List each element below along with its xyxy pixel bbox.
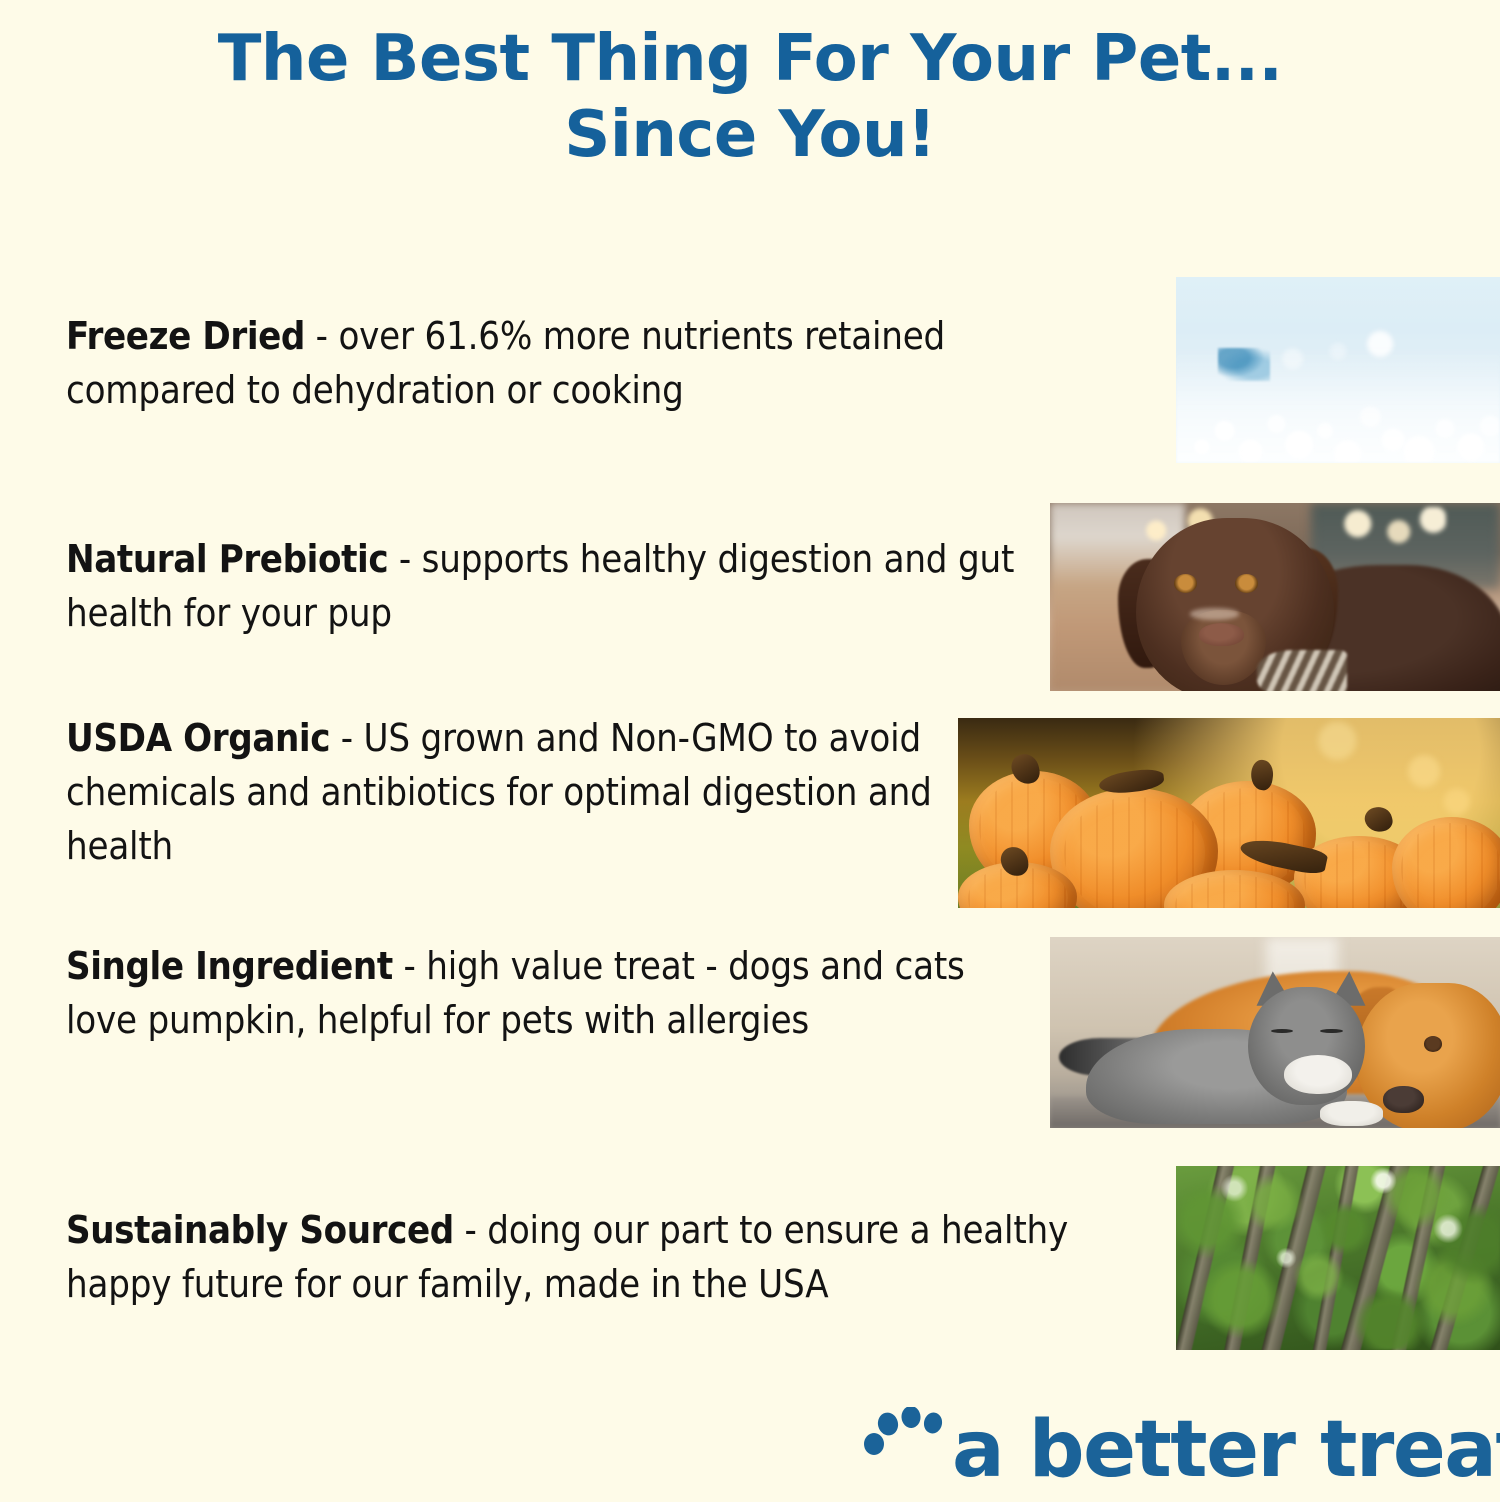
lab-muzzle-highlight <box>1190 608 1240 619</box>
infographic-page: The Best Thing For Your Pet... Since You… <box>0 0 1500 1500</box>
forest-sky-gaps <box>1176 1166 1500 1350</box>
forest-photo <box>1176 1166 1500 1350</box>
feature-item-single-ingredient: Single Ingredient - high value treat - d… <box>66 940 1026 1048</box>
chocolate-labrador-photo <box>1050 503 1500 691</box>
page-title-line-1: The Best Thing For Your Pet... <box>0 22 1500 98</box>
cat-and-dog-photo <box>1050 937 1500 1128</box>
golden-retriever-nose <box>1383 1086 1424 1113</box>
feature-lead: Single Ingredient <box>66 944 393 988</box>
ice-water-splash <box>1218 348 1270 381</box>
feature-lead: Freeze Dried <box>66 314 305 358</box>
pumpkin-ribs <box>1175 875 1293 908</box>
golden-retriever-eye <box>1424 1036 1442 1051</box>
pumpkins-photo <box>958 718 1500 908</box>
cat-chin-patch <box>1284 1055 1352 1093</box>
cat-front-paws <box>1320 1101 1383 1126</box>
lab-nose <box>1199 623 1244 646</box>
cat-eye-left <box>1271 1029 1294 1033</box>
feature-item-sustainably-sourced: Sustainably Sourced - doing our part to … <box>66 1204 1166 1312</box>
feature-item-usda-organic: USDA Organic - US grown and Non-GMO to a… <box>66 712 971 874</box>
feature-item-freeze-dried: Freeze Dried - over 61.6% more nutrients… <box>66 310 1096 418</box>
logo-wordmark: a better treat <box>952 1411 1500 1489</box>
paw-print-icon <box>860 1407 968 1493</box>
page-title-line-2: Since You! <box>0 98 1500 174</box>
feature-item-natural-prebiotic: Natural Prebiotic - supports healthy dig… <box>66 533 1026 641</box>
brand-logo[interactable]: a better treat <box>860 1398 1470 1502</box>
feature-lead: USDA Organic <box>66 716 330 760</box>
pumpkin-ribs <box>1401 823 1500 908</box>
lab-collar <box>1257 650 1347 691</box>
ice-crystals-photo <box>1176 277 1500 463</box>
feature-lead: Sustainably Sourced <box>66 1208 454 1252</box>
feature-lead: Natural Prebiotic <box>66 537 388 581</box>
cat-eye-right <box>1320 1029 1343 1033</box>
page-title: The Best Thing For Your Pet... Since You… <box>0 22 1500 173</box>
lab-eye-right <box>1235 574 1258 593</box>
